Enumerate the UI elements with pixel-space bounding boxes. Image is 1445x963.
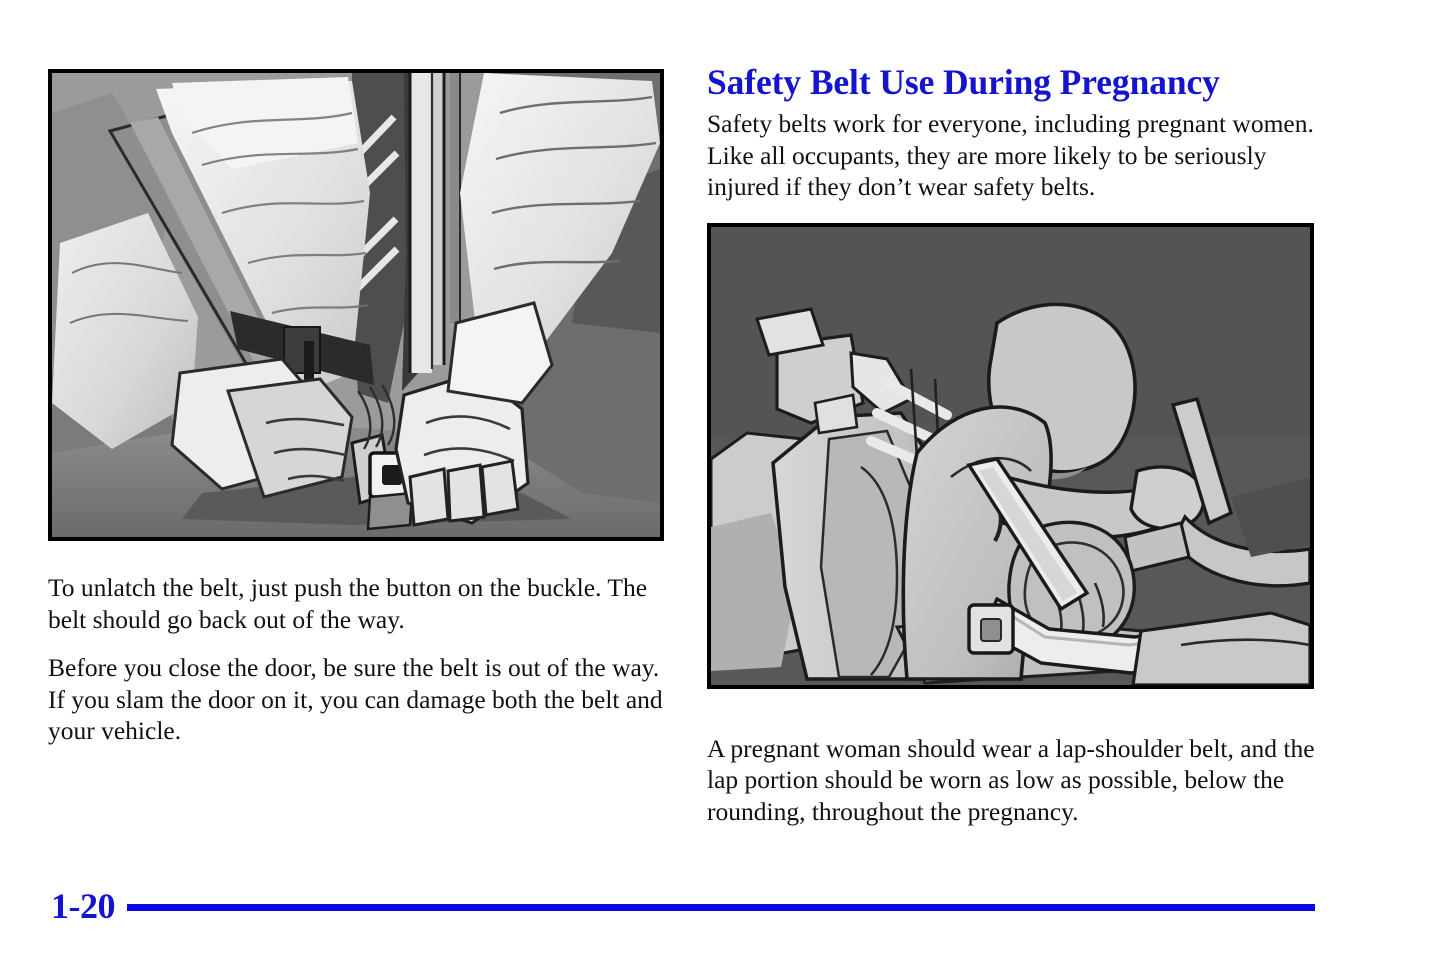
caption-paragraph-1: A pregnant woman should wear a lap-shoul…	[707, 733, 1315, 828]
footer-rule	[127, 904, 1315, 911]
figure-caption: A pregnant woman should wear a lap-shoul…	[707, 733, 1315, 828]
right-column: Safety Belt Use During Pregnancy Safety …	[707, 62, 1315, 827]
intro-paragraph-1: Safety belts work for everyone, includin…	[707, 108, 1315, 203]
manual-page: To unlatch the belt, just push the butto…	[0, 0, 1445, 963]
section-heading: Safety Belt Use During Pregnancy	[707, 62, 1315, 102]
page-footer: 1-20	[48, 884, 1318, 932]
left-column: To unlatch the belt, just push the butto…	[48, 69, 664, 747]
left-body-text: To unlatch the belt, just push the butto…	[48, 572, 664, 747]
intro-text: Safety belts work for everyone, includin…	[707, 108, 1315, 203]
page-number: 1-20	[51, 884, 115, 928]
buckle-release-illustration	[48, 69, 664, 541]
left-paragraph-1: To unlatch the belt, just push the butto…	[48, 572, 664, 635]
left-paragraph-2: Before you close the door, be sure the b…	[48, 652, 664, 747]
pregnant-driver-artwork	[711, 227, 1310, 685]
buckle-release-artwork	[52, 73, 660, 537]
pregnant-driver-illustration	[707, 223, 1314, 689]
